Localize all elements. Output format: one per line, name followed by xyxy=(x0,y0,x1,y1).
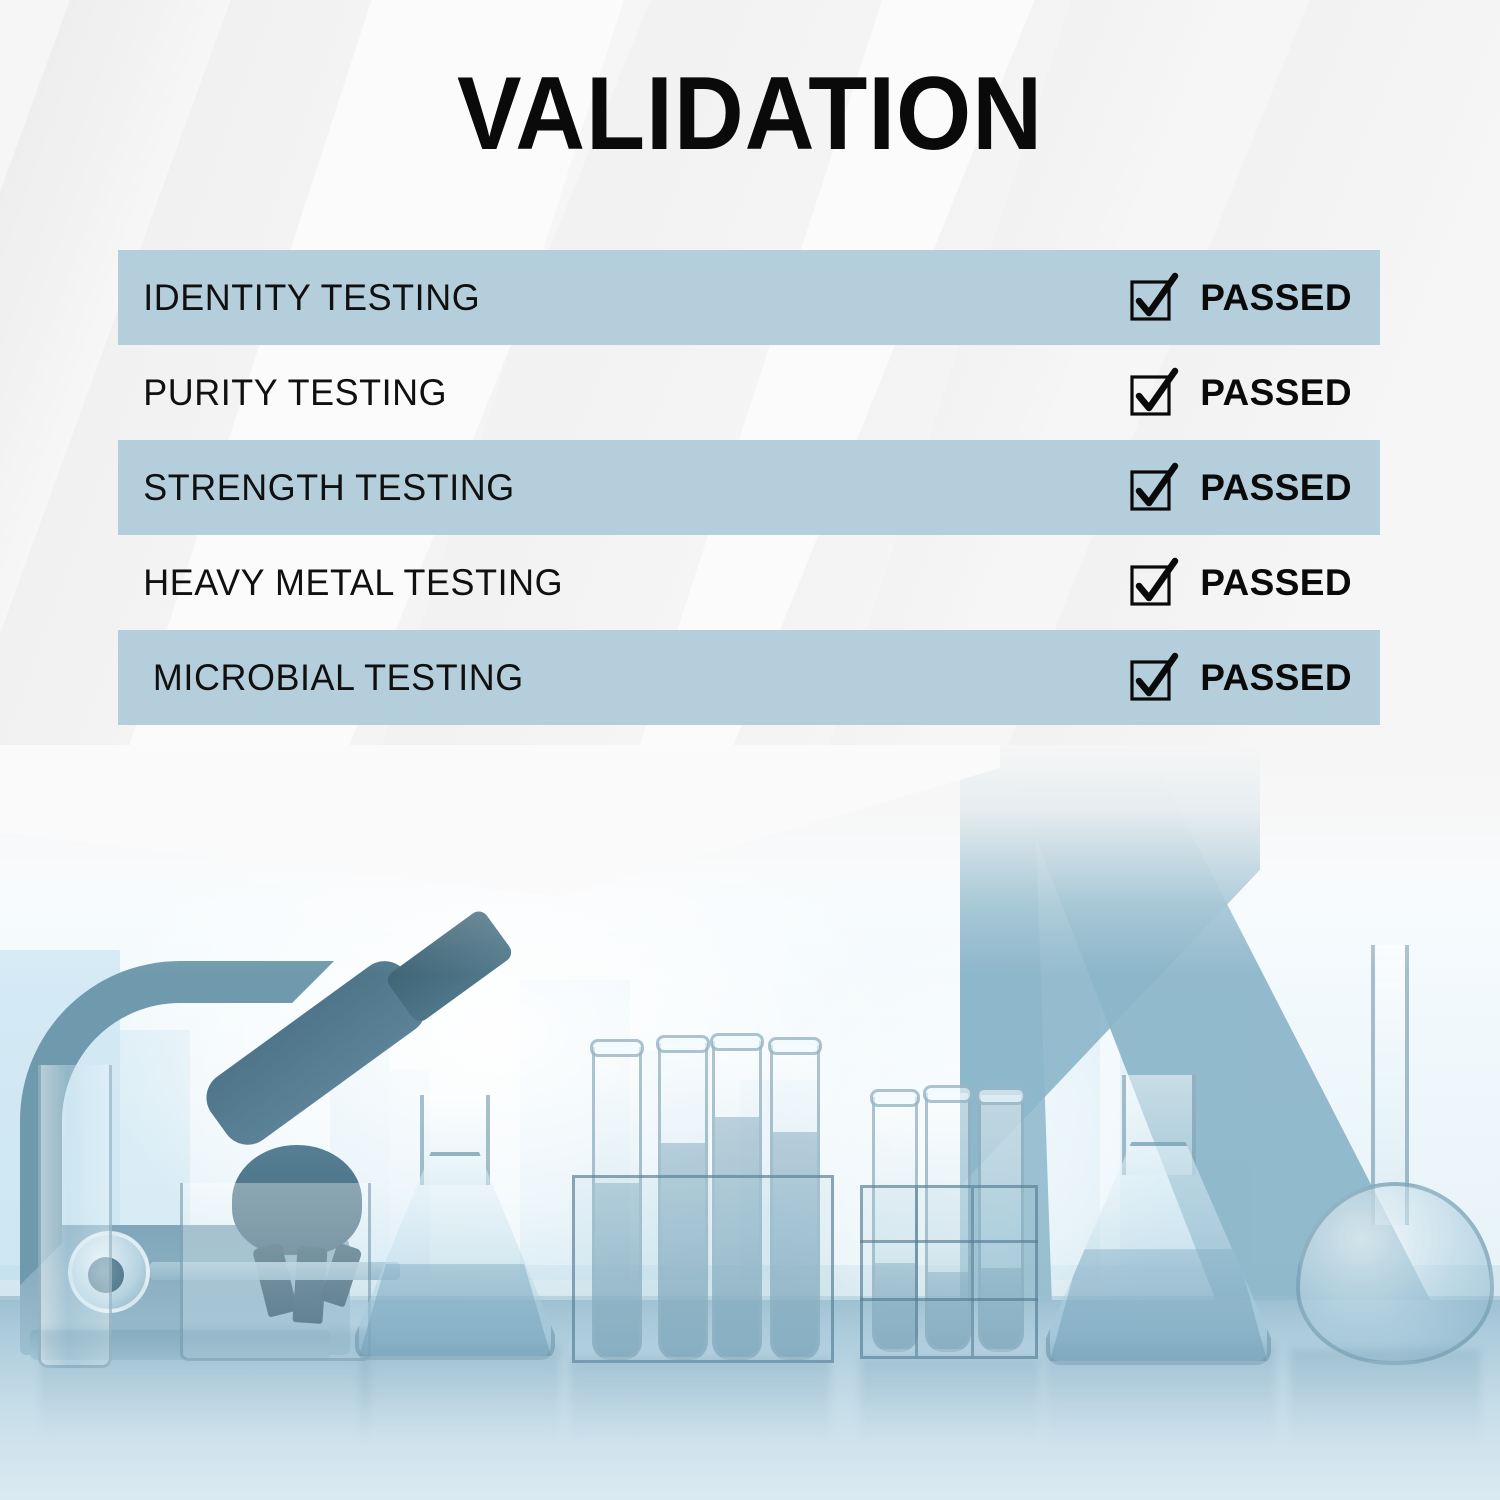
volumetric-flask xyxy=(1280,945,1500,1365)
table-row[interactable]: STRENGTH TESTING PASSED xyxy=(118,440,1380,535)
test-name: IDENTITY TESTING xyxy=(118,277,480,319)
erlenmeyer-flask xyxy=(355,1095,555,1360)
page-title: VALIDATION xyxy=(53,62,1448,166)
status-badge: PASSED xyxy=(1200,562,1352,604)
test-status-group: PASSED xyxy=(1128,557,1380,609)
status-badge: PASSED xyxy=(1200,372,1352,414)
test-results-list: IDENTITY TESTING PASSED PURITY TESTING P… xyxy=(118,250,1380,725)
table-row[interactable]: IDENTITY TESTING PASSED xyxy=(118,250,1380,345)
checked-box-icon[interactable] xyxy=(1128,367,1180,419)
validation-infographic: VALIDATION IDENTITY TESTING PASSED PURIT… xyxy=(0,0,1500,1500)
laboratory-photo xyxy=(0,745,1500,1500)
test-name: PURITY TESTING xyxy=(118,372,447,414)
test-tube-rack xyxy=(860,1185,1038,1359)
checked-box-icon[interactable] xyxy=(1128,557,1180,609)
table-row[interactable]: HEAVY METAL TESTING PASSED xyxy=(118,535,1380,630)
table-row[interactable]: PURITY TESTING PASSED xyxy=(118,345,1380,440)
status-badge: PASSED xyxy=(1200,657,1352,699)
test-name: STRENGTH TESTING xyxy=(118,467,515,509)
graduated-cylinder xyxy=(38,1065,112,1368)
test-status-group: PASSED xyxy=(1128,367,1380,419)
test-status-group: PASSED xyxy=(1128,652,1380,704)
checked-box-icon[interactable] xyxy=(1128,272,1180,324)
checked-box-icon[interactable] xyxy=(1128,462,1180,514)
test-tube-rack xyxy=(572,1175,834,1363)
test-status-group: PASSED xyxy=(1128,462,1380,514)
test-status-group: PASSED xyxy=(1128,272,1380,324)
test-name: MICROBIAL TESTING xyxy=(118,657,524,699)
status-badge: PASSED xyxy=(1200,277,1352,319)
checked-box-icon[interactable] xyxy=(1128,652,1180,704)
status-badge: PASSED xyxy=(1200,467,1352,509)
table-row[interactable]: MICROBIAL TESTING PASSED xyxy=(118,630,1380,725)
erlenmeyer-flask xyxy=(1046,1075,1271,1365)
test-name: HEAVY METAL TESTING xyxy=(118,562,563,604)
